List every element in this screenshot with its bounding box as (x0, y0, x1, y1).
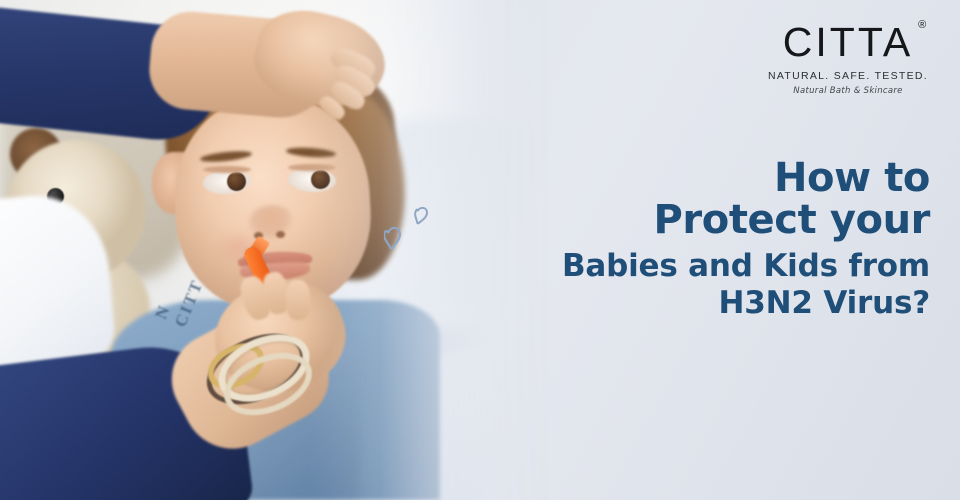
brand-name: CITTA® (783, 22, 913, 63)
promo-banner: N CITT (0, 0, 960, 500)
heart-doodles (384, 202, 446, 258)
brand-tagline: NATURAL. SAFE. TESTED. (764, 70, 932, 82)
headline-line-1: How to (510, 158, 930, 200)
registered-trademark-icon: ® (918, 20, 926, 31)
headline-block: How to Protect your Babies and Kids from… (510, 158, 930, 320)
brand-logo[interactable]: CITTA® NATURAL. SAFE. TESTED. Natural Ba… (764, 22, 932, 96)
photo-fade-overlay (0, 0, 560, 500)
headline-line-4: H3N2 Virus? (510, 287, 930, 319)
hero-photo: N CITT (0, 0, 560, 500)
headline-line-2: Protect your (510, 200, 930, 242)
brand-name-text: CITTA (783, 19, 913, 65)
brand-subtitle: Natural Bath & Skincare (764, 86, 932, 96)
headline-line-3: Babies and Kids from (510, 250, 930, 282)
